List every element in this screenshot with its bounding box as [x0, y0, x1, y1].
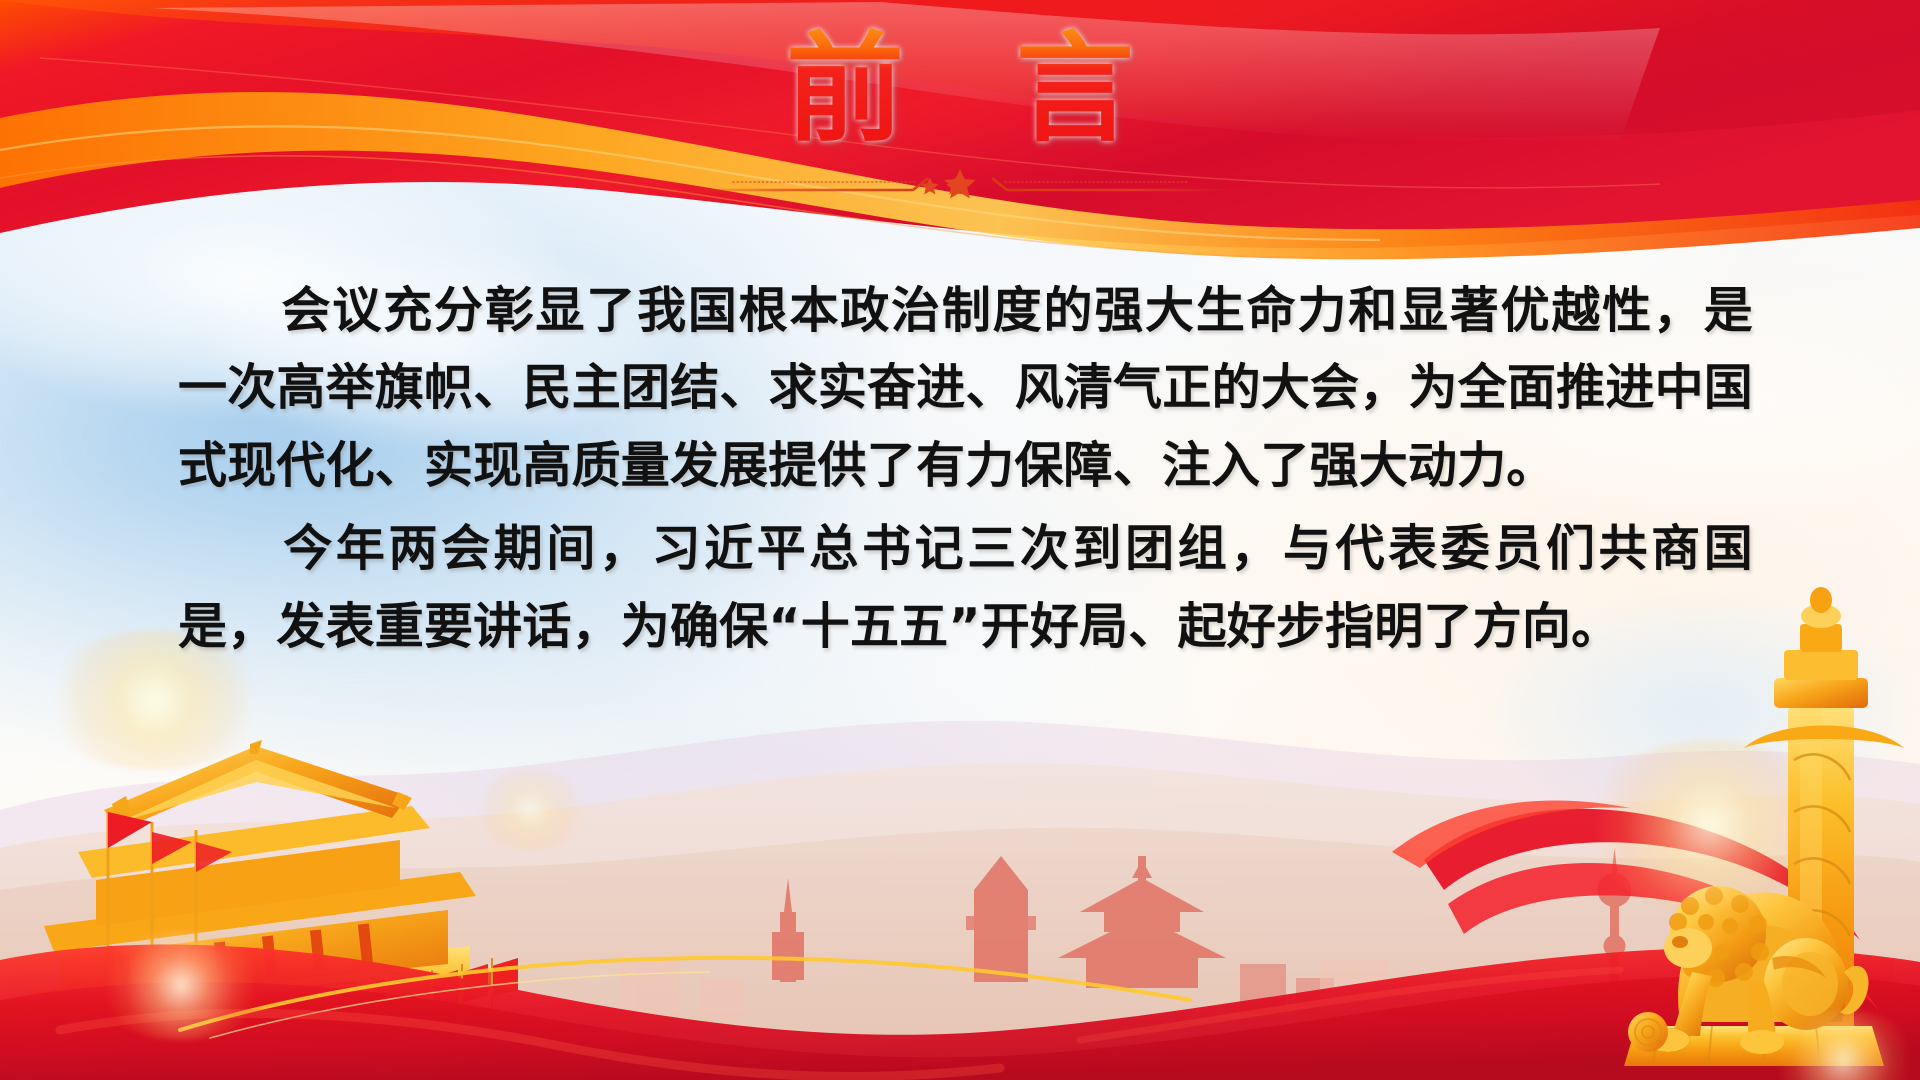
- slide-title-block: 前 言: [0, 28, 1920, 152]
- page-title: 前 言: [751, 28, 1170, 152]
- presentation-slide: 前 言: [0, 0, 1920, 1080]
- paragraph-2: 今年两会期间，习近平总书记三次到团组，与代表委员们共商国是，发表重要讲话，为确保…: [178, 510, 1753, 665]
- paragraph-2-text: 今年两会期间，习近平总书记三次到团组，与代表委员们共商国是，发表重要讲话，为确保…: [178, 520, 1753, 654]
- paragraph-1: 会议充分彰显了我国根本政治制度的强大生命力和显著优越性，是一次高举旗帜、民主团结…: [178, 272, 1753, 504]
- body-text-block: 会议充分彰显了我国根本政治制度的强大生命力和显著优越性，是一次高举旗帜、民主团结…: [178, 272, 1753, 665]
- ornamental-divider: [675, 163, 1245, 203]
- star-icon: [921, 169, 976, 198]
- paragraph-1-text: 会议充分彰显了我国根本政治制度的强大生命力和显著优越性，是一次高举旗帜、民主团结…: [178, 282, 1753, 494]
